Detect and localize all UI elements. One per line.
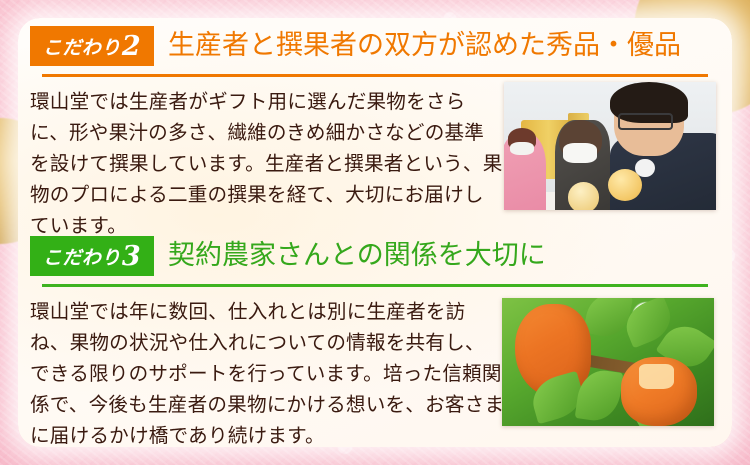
heading-row-3: こだわり 3 契約農家さんとの関係を大切に [30,236,720,282]
badge-number-2: 2 [122,33,141,60]
badge-number-3: 3 [122,243,141,270]
badge-label-3: こだわり [43,243,121,270]
photo1-worker-dark-mask [563,143,597,162]
body-line: 物のプロによる二重の撰果を経て、大切にお届けし [30,179,516,210]
badge-kodawari-2: こだわり 2 [30,26,154,66]
photo-inspector-checking-pear [504,82,716,210]
photo2-fruit-bag-right [621,357,697,426]
badge-kodawari-3: こだわり 3 [30,236,154,276]
body-wrap-3: 環山堂では年に数回、仕入れとは別に生産者を訪 ね、果物の状況や仕入れについての情… [30,296,720,436]
body-line: に届けるかけ橋であり続けます。 [30,420,516,451]
section-kodawari-2: こだわり 2 生産者と撰果者の双方が認めた秀品・優品 環山堂では生産者がギフト用… [18,26,732,226]
photo1-shirt-logo [635,159,654,177]
heading-title-3: 契約農家さんとの関係を大切に [168,236,546,276]
body-line: 環山堂では生産者がギフト用に選んだ果物をさら [30,86,516,117]
body-line: を設けて撰果しています。生産者と撰果者という、果 [30,148,516,179]
heading-title-2: 生産者と撰果者の双方が認めた秀品・優品 [168,26,681,66]
content-card: こだわり 2 生産者と撰果者の双方が認めた秀品・優品 環山堂では生産者がギフト用… [18,18,732,447]
photo1-worker-pink-mask [510,142,533,155]
body-line: できる限りのサポートを行っています。培った信頼関 [30,358,516,389]
body-text-2: 環山堂では生産者がギフト用に選んだ果物をさら に、形や果汁の多さ、繊維のきめ細か… [30,86,516,241]
body-text-3: 環山堂では年に数回、仕入れとは別に生産者を訪 ね、果物の状況や仕入れについての情… [30,296,516,451]
body-line: 環山堂では年に数回、仕入れとは別に生産者を訪 [30,296,516,327]
heading-row-2: こだわり 2 生産者と撰果者の双方が認めた秀品・優品 [30,26,720,72]
heading-underline-3 [42,284,708,287]
badge-label-2: こだわり [43,33,121,60]
body-line: ね、果物の状況や仕入れについての情報を共有し、 [30,327,516,358]
photo1-pear-left-hand [568,182,600,210]
heading-underline-2 [42,74,708,77]
photo1-pear-right-hand [608,169,642,201]
photo-bagged-pears-on-tree [502,298,714,426]
photo1-inspector-glasses [618,113,673,130]
body-line: 係で、今後も生産者の果物にかける想いを、お客さま [30,389,516,420]
body-line: に、形や果汁の多さ、繊維のきめ細かさなどの基準 [30,117,516,148]
body-wrap-2: 環山堂では生産者がギフト用に選んだ果物をさら に、形や果汁の多さ、繊維のきめ細か… [30,86,720,226]
section-kodawari-3: こだわり 3 契約農家さんとの関係を大切に 環山堂では年に数回、仕入れとは別に生… [18,236,732,436]
